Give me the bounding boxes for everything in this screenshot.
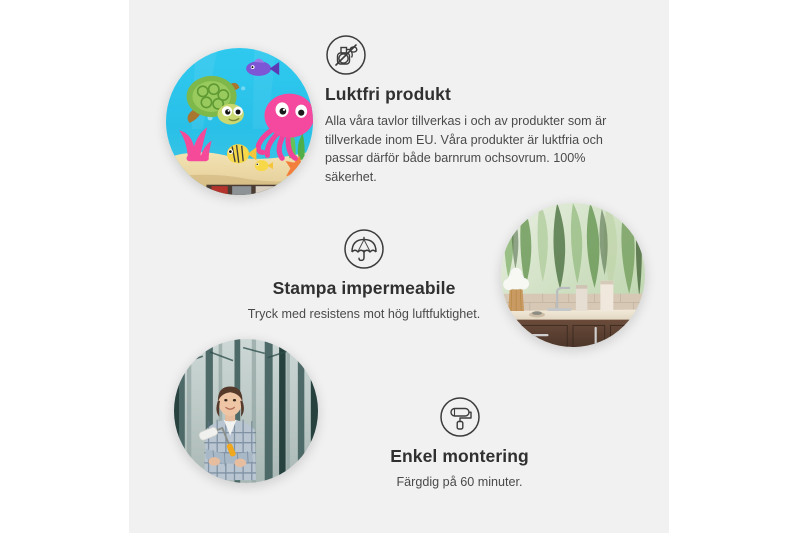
feature-title: Luktfri produkt	[325, 84, 625, 106]
feature-block-enkel-montering: Enkel montering Färgdig på 60 minuter.	[332, 396, 587, 492]
feature-description: Alla våra tavlor tillverkas i och av pro…	[325, 112, 611, 187]
feature-description: Tryck med resistens mot hög luftfuktighe…	[209, 305, 519, 324]
feature-block-stampa-impermeabile: Stampa impermeabile Tryck med resistens …	[209, 228, 519, 324]
feature-image-underwater-mural	[166, 48, 313, 195]
feature-infographic: Luktfri produkt Alla våra tavlor tillver…	[0, 0, 800, 533]
paint-roller-icon	[439, 396, 481, 438]
no-fragrance-icon	[325, 34, 367, 76]
feature-title: Enkel montering	[332, 446, 587, 468]
feature-image-bathroom-mural	[501, 203, 645, 347]
umbrella-icon	[343, 228, 385, 270]
content-panel: Luktfri produkt Alla våra tavlor tillver…	[129, 0, 669, 533]
feature-block-luktfri-produkt: Luktfri produkt Alla våra tavlor tillver…	[325, 34, 625, 186]
feature-title: Stampa impermeabile	[209, 278, 519, 300]
feature-description: Färgdig på 60 minuter.	[332, 473, 587, 492]
feature-image-forest-mural	[174, 339, 318, 483]
